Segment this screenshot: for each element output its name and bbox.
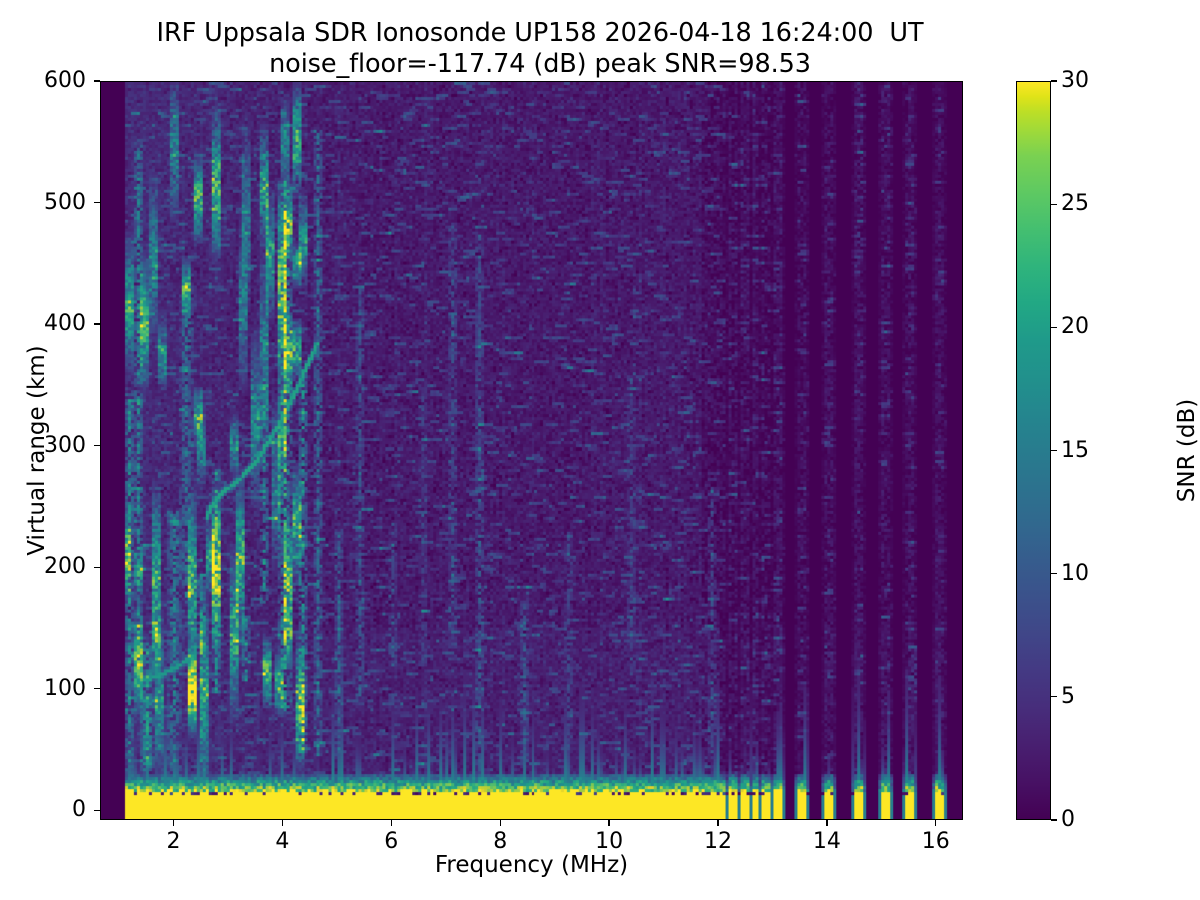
- colorbar-tick-mark: [1051, 696, 1057, 697]
- x-tick-label: 2: [167, 831, 181, 853]
- colorbar-tick-label: 20: [1061, 316, 1089, 338]
- colorbar-tick-label: 30: [1061, 70, 1089, 92]
- x-tick-mark: [500, 820, 501, 826]
- x-tick-label: 14: [813, 831, 841, 853]
- x-tick-label: 16: [922, 831, 950, 853]
- ionogram-heatmap: [101, 82, 962, 819]
- y-tick-mark: [94, 202, 100, 203]
- x-tick-label: 12: [704, 831, 732, 853]
- colorbar-tick-mark: [1051, 573, 1057, 574]
- x-tick-label: 10: [595, 831, 623, 853]
- x-tick-mark: [282, 820, 283, 826]
- y-axis-label: Virtual range (km): [24, 81, 54, 820]
- x-tick-label: 6: [384, 831, 398, 853]
- x-tick-mark: [608, 820, 609, 826]
- x-tick-mark: [826, 820, 827, 826]
- x-tick-mark: [173, 820, 174, 826]
- colorbar-tick-label: 15: [1061, 440, 1089, 462]
- y-tick-mark: [94, 567, 100, 568]
- x-tick-mark: [717, 820, 718, 826]
- y-tick-mark: [94, 688, 100, 689]
- colorbar-tick-mark: [1051, 450, 1057, 451]
- figure-title: IRF Uppsala SDR Ionosonde UP158 2026-04-…: [0, 18, 1080, 80]
- colorbar-tick-label: 5: [1061, 686, 1075, 708]
- colorbar-gradient: [1017, 82, 1050, 819]
- colorbar-tick-label: 0: [1061, 809, 1075, 831]
- x-tick-mark: [391, 820, 392, 826]
- colorbar-tick-label: 10: [1061, 563, 1089, 585]
- colorbar-tick-label: 25: [1061, 193, 1089, 215]
- x-tick-label: 4: [275, 831, 289, 853]
- colorbar-tick-mark: [1051, 204, 1057, 205]
- y-tick-mark: [94, 323, 100, 324]
- colorbar-tick-mark: [1051, 327, 1057, 328]
- y-tick-mark: [94, 80, 100, 81]
- ionogram-plot-area[interactable]: [100, 81, 963, 820]
- x-tick-label: 8: [493, 831, 507, 853]
- title-line-1: IRF Uppsala SDR Ionosonde UP158 2026-04-…: [157, 18, 924, 48]
- y-tick-mark: [94, 445, 100, 446]
- colorbar-tick-mark: [1051, 80, 1057, 81]
- x-axis-label: Frequency (MHz): [100, 852, 963, 878]
- title-line-2: noise_floor=-117.74 (dB) peak SNR=98.53: [269, 49, 811, 79]
- snr-colorbar: [1016, 81, 1051, 820]
- colorbar-label: SNR (dB): [1174, 81, 1200, 820]
- ionogram-figure: IRF Uppsala SDR Ionosonde UP158 2026-04-…: [0, 0, 1200, 900]
- y-tick-mark: [94, 810, 100, 811]
- x-tick-mark: [935, 820, 936, 826]
- colorbar-tick-mark: [1051, 819, 1057, 820]
